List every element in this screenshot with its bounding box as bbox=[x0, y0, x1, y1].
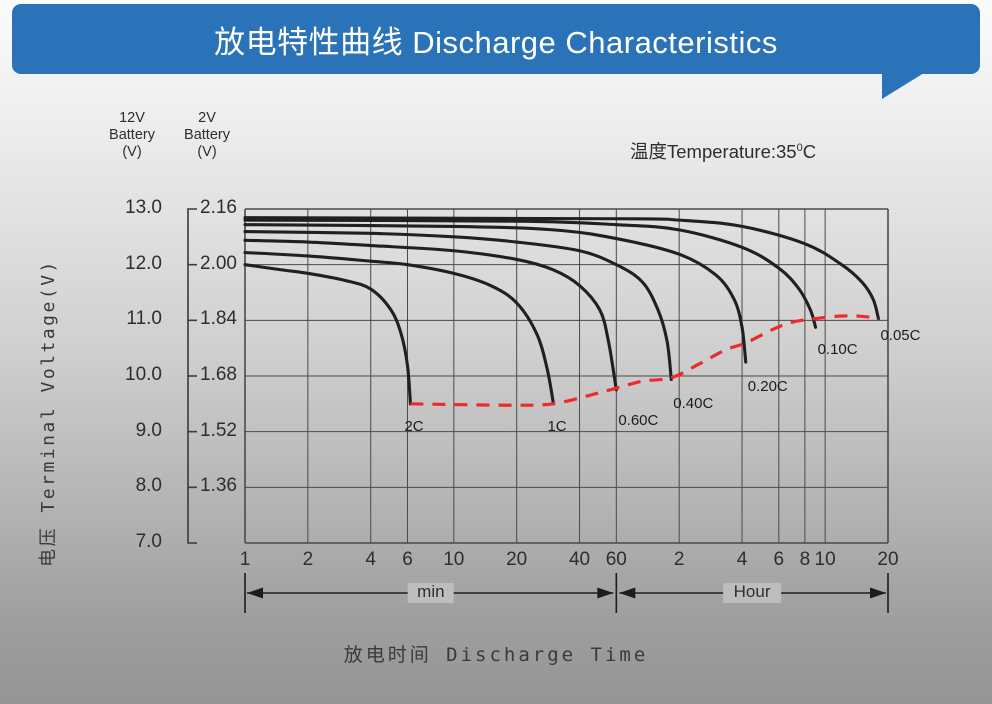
x-tick: 10 bbox=[808, 549, 842, 571]
y-tick-2v: 1.36 bbox=[200, 475, 262, 497]
hour-range-label: Hour bbox=[730, 582, 775, 602]
plot-svg bbox=[0, 82, 992, 704]
x-tick: 6 bbox=[390, 549, 424, 571]
x-tick: 4 bbox=[725, 549, 759, 571]
y-tick-12v: 8.0 bbox=[100, 475, 162, 497]
x-tick: 2 bbox=[291, 549, 325, 571]
x-tick: 1 bbox=[228, 549, 262, 571]
y-tick-2v: 2.16 bbox=[200, 197, 262, 219]
y-tick-2v: 2.00 bbox=[200, 253, 262, 275]
y-tick-12v: 12.0 bbox=[100, 253, 162, 275]
y-tick-12v: 9.0 bbox=[100, 420, 162, 442]
curve-label-0_60C: 0.60C bbox=[618, 412, 658, 429]
curve-label-0_20C: 0.20C bbox=[748, 378, 788, 395]
curve-label-0_05C: 0.05C bbox=[880, 327, 920, 344]
curve-label-2C: 2C bbox=[404, 418, 423, 435]
y-tick-2v: 1.52 bbox=[200, 420, 262, 442]
x-tick: 10 bbox=[437, 549, 471, 571]
y-tick-2v: 1.68 bbox=[200, 364, 262, 386]
min-range-label: min bbox=[413, 582, 448, 602]
header-banner: 放电特性曲线 Discharge Characteristics bbox=[12, 4, 980, 82]
curve-label-1C: 1C bbox=[547, 418, 566, 435]
discharge-curve-2C bbox=[245, 265, 410, 404]
discharge-curve-0_10C bbox=[245, 220, 816, 327]
discharge-curve-0_60C bbox=[245, 240, 616, 390]
y-tick-12v: 7.0 bbox=[100, 531, 162, 553]
page-title: 放电特性曲线 Discharge Characteristics bbox=[12, 4, 980, 74]
discharge-curve-0_20C bbox=[245, 225, 746, 362]
y-tick-12v: 11.0 bbox=[100, 308, 162, 330]
x-tick: 20 bbox=[500, 549, 534, 571]
y-tick-2v: 1.84 bbox=[200, 308, 262, 330]
x-tick: 4 bbox=[354, 549, 388, 571]
x-tick: 40 bbox=[563, 549, 597, 571]
y-tick-12v: 10.0 bbox=[100, 364, 162, 386]
discharge-curve-0_40C bbox=[245, 232, 671, 380]
cutoff-voltage-line bbox=[410, 316, 878, 405]
discharge-characteristics-chart: 12V Battery (V) 2V Battery (V) 温度Tempera… bbox=[0, 82, 992, 704]
x-tick: 2 bbox=[662, 549, 696, 571]
curve-label-0_10C: 0.10C bbox=[818, 341, 858, 358]
y-tick-12v: 13.0 bbox=[100, 197, 162, 219]
x-tick: 20 bbox=[871, 549, 905, 571]
x-tick: 60 bbox=[599, 549, 633, 571]
curve-label-0_40C: 0.40C bbox=[673, 395, 713, 412]
